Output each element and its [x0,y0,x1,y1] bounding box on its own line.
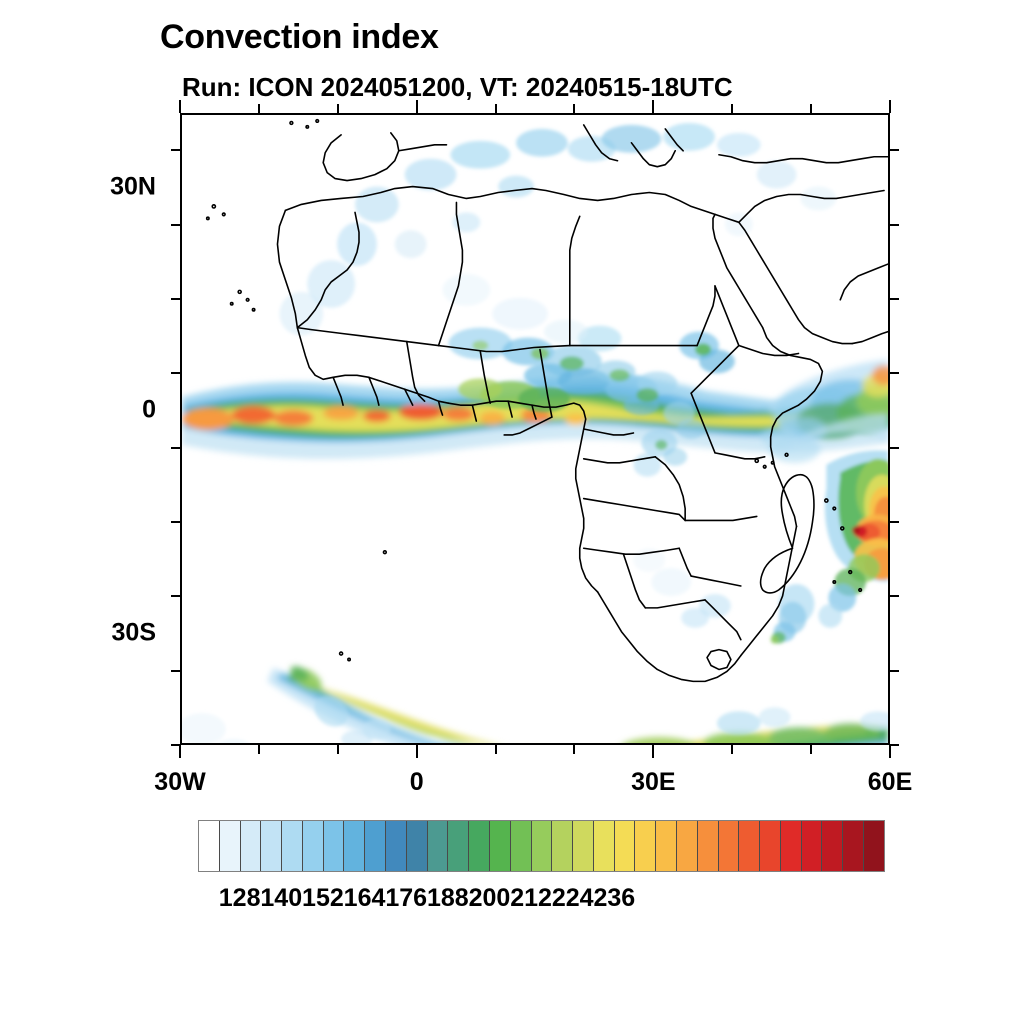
y-axis-tick [171,149,180,151]
x-axis-tick-top [810,104,812,113]
colorbar-cell [365,821,386,871]
y-axis-tick-right [890,595,899,597]
colorbar-cell [448,821,469,871]
colorbar-cell [739,821,760,871]
x-axis-tick [573,745,575,754]
y-axis-tick [171,521,180,523]
x-axis-tick [337,745,339,754]
colorbar-cell [324,821,345,871]
colorbar-tick-label: 176 [385,884,427,913]
colorbar-cell [781,821,802,871]
colorbar-cell [802,821,823,871]
x-axis-tick [179,745,181,758]
y-axis-tick-right [890,224,899,226]
map-canvas [182,115,888,743]
colorbar-cell [573,821,594,871]
colorbar-cell [220,821,241,871]
x-axis-label: 0 [410,768,424,797]
y-axis-tick [171,298,180,300]
x-axis-tick [495,745,497,754]
x-axis-tick-top [889,100,891,113]
y-axis-tick-right [890,521,899,523]
page-title: Convection index [160,18,439,57]
y-axis-tick-right [890,372,899,374]
y-axis-tick-right [890,670,899,672]
x-axis-tick [889,745,891,758]
colorbar-cell [490,821,511,871]
colorbar-cell [656,821,677,871]
colorbar-cell [407,821,428,871]
colorbar-cell [428,821,449,871]
y-axis-tick [171,595,180,597]
colorbar-cell [864,821,884,871]
x-axis-tick-top [179,100,181,113]
colorbar-cell [552,821,573,871]
colorbar-tick-label: 236 [594,884,636,913]
y-axis-tick [171,670,180,672]
x-axis-label: 60E [868,768,912,797]
y-axis-tick [171,224,180,226]
x-axis-tick-top [731,104,733,113]
colorbar-tick-label: 152 [302,884,344,913]
colorbar-tick-label: 224 [552,884,594,913]
colorbar-tick-label: 164 [344,884,386,913]
x-axis-tick-top [337,104,339,113]
x-axis-tick-top [573,104,575,113]
x-axis-tick [731,745,733,754]
colorbar-cell [344,821,365,871]
convection-field [182,120,888,743]
figure-root: Convection index Run: ICON 2024051200, V… [0,0,1024,1024]
colorbar-cell [760,821,781,871]
y-axis-tick-right [890,744,899,746]
colorbar-tick-label: 212 [510,884,552,913]
x-axis-tick-top [495,104,497,113]
colorbar-cell [511,821,532,871]
indian-ocean-cyclone [818,450,888,627]
y-axis-label: 30N [0,173,156,202]
colorbar-cell [635,821,656,871]
page-subtitle: Run: ICON 2024051200, VT: 20240515-18UTC [182,72,733,103]
colorbar-cell [677,821,698,871]
y-axis-tick [171,447,180,449]
y-axis-label: 0 [0,396,156,425]
colorbar-cell [822,821,843,871]
colorbar-cell [303,821,324,871]
colorbar-cell [843,821,864,871]
y-axis-label: 30S [0,619,156,648]
colorbar-cell [698,821,719,871]
x-axis-label: 30E [631,768,675,797]
x-axis-tick [652,745,654,758]
colorbar-cell [386,821,407,871]
colorbar-tick-label: 140 [260,884,302,913]
colorbar-cell [719,821,740,871]
x-axis-tick-top [416,100,418,113]
mozambique-channel-convection [681,584,814,644]
y-axis-tick-right [890,447,899,449]
colorbar-cell [282,821,303,871]
x-axis-tick [258,745,260,754]
y-axis-tick-right [890,149,899,151]
colorbar-tick-label: 188 [427,884,469,913]
x-axis-tick-top [258,104,260,113]
colorbar-cell [199,821,220,871]
x-axis-tick [810,745,812,754]
x-axis-tick [416,745,418,758]
y-axis-tick [171,372,180,374]
x-axis-label: 30W [154,768,205,797]
colorbar-tick-label: 200 [469,884,511,913]
map-plot-area [180,113,890,745]
colorbar-cell [532,821,553,871]
y-axis-tick-right [890,298,899,300]
colorbar [198,820,885,872]
colorbar-cell [261,821,282,871]
colorbar-cell [594,821,615,871]
x-axis-tick-top [652,100,654,113]
y-axis-tick [171,744,180,746]
southwest-atlantic-faint [182,713,254,743]
colorbar-cell [241,821,262,871]
colorbar-tick-label: 128 [219,884,261,913]
colorbar-cell [469,821,490,871]
colorbar-cell [615,821,636,871]
